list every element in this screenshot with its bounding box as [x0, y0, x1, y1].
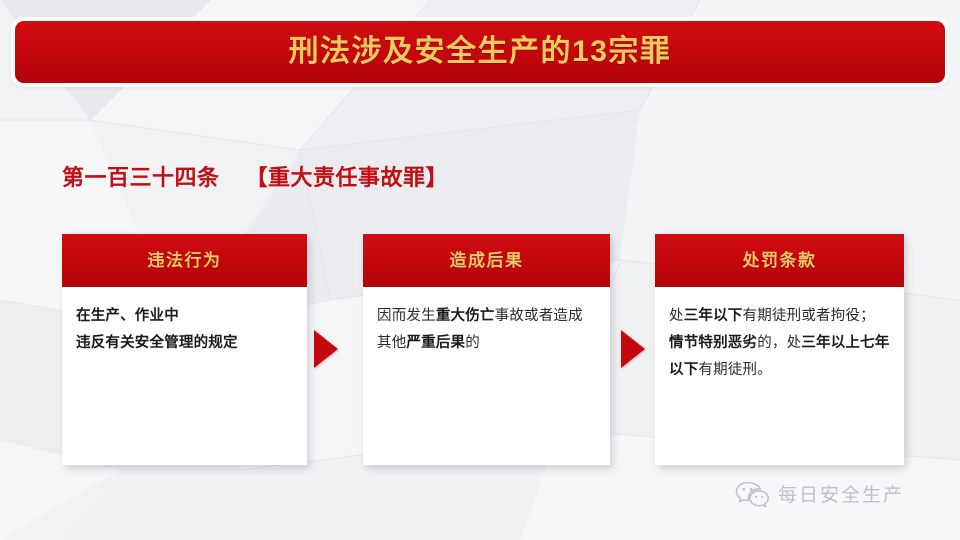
plain-text: 的，处 [757, 335, 801, 351]
emphasis-text: 三年以下 [684, 308, 743, 324]
card-penalty: 处罚条款 处三年以下有期徒刑或者拘役；情节特别恶劣的，处三年以上七年以下有期徒刑… [655, 234, 904, 465]
card-body-line: 在生产、作业中 [76, 303, 293, 330]
wechat-account-name: 每日安全生产 [778, 486, 904, 505]
card-body-line: 处三年以下有期徒刑或者拘役； [669, 303, 890, 330]
plain-text: 因而发生 [377, 308, 436, 324]
flow-cards-row: 违法行为 在生产、作业中违反有关安全管理的规定 造成后果 因而发生重大伤亡事故或… [0, 234, 960, 474]
card-consequence-title: 造成后果 [450, 252, 524, 269]
wechat-icon [735, 481, 769, 509]
wechat-watermark: 每日安全生产 [735, 481, 904, 509]
plain-text: 的 [465, 335, 480, 351]
card-penalty-body: 处三年以下有期徒刑或者拘役；情节特别恶劣的，处三年以上七年以下有期徒刑。 [655, 287, 904, 394]
emphasis-text: 情节特别恶劣 [669, 335, 757, 351]
plain-text: 有期徒刑。 [698, 362, 772, 378]
card-body-line: 违反有关安全管理的规定 [76, 330, 293, 357]
emphasis-text: 重大伤亡 [436, 308, 495, 324]
card-consequence: 造成后果 因而发生重大伤亡事故或者造成其他严重后果的 [363, 234, 610, 465]
crime-name: 【重大责任事故罪】 [246, 160, 449, 192]
card-illegal-act-body: 在生产、作业中违反有关安全管理的规定 [62, 287, 307, 367]
card-illegal-act-header: 违法行为 [62, 234, 307, 287]
plain-text: 处 [669, 308, 684, 324]
card-body-line: 情节特别恶劣的，处三年以上七年以下有期徒刑。 [669, 330, 890, 384]
emphasis-text: 违反有关安全管理的规定 [76, 335, 238, 351]
card-body-line: 因而发生重大伤亡事故或者造成其他严重后果的 [377, 303, 596, 357]
triangle-right-icon [314, 330, 338, 368]
card-consequence-body: 因而发生重大伤亡事故或者造成其他严重后果的 [363, 287, 610, 367]
article-heading: 第一百三十四条 【重大责任事故罪】 [62, 160, 448, 192]
card-illegal-act: 违法行为 在生产、作业中违反有关安全管理的规定 [62, 234, 307, 465]
plain-text: 有期徒刑或者拘役； [743, 308, 875, 324]
triangle-right-icon [621, 330, 645, 368]
card-penalty-header: 处罚条款 [655, 234, 904, 287]
card-illegal-act-title: 违法行为 [148, 252, 222, 269]
emphasis-text: 在生产、作业中 [76, 308, 179, 324]
presentation-slide: 刑法涉及安全生产的13宗罪 第一百三十四条 【重大责任事故罪】 违法行为 在生产… [0, 0, 960, 540]
card-consequence-header: 造成后果 [363, 234, 610, 287]
card-penalty-title: 处罚条款 [743, 252, 817, 269]
article-number: 第一百三十四条 [62, 160, 220, 192]
slide-title-banner: 刑法涉及安全生产的13宗罪 [15, 21, 945, 83]
page-title: 刑法涉及安全生产的13宗罪 [289, 37, 672, 67]
emphasis-text: 严重后果 [406, 335, 465, 351]
